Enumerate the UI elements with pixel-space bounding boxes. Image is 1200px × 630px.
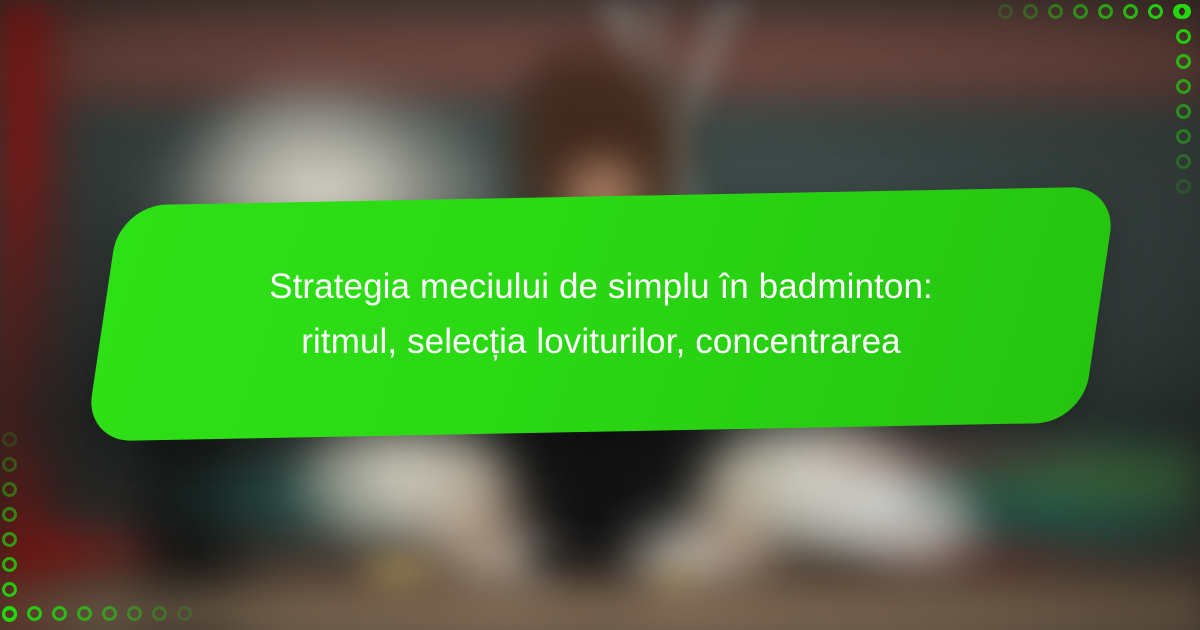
decorative-dots-bottom-left-row — [2, 606, 204, 628]
decorative-dot — [1123, 4, 1138, 19]
decorative-dot — [1048, 4, 1063, 19]
decorative-dot — [1176, 54, 1191, 69]
decorative-dot — [998, 4, 1013, 19]
decorative-dot — [2, 432, 17, 447]
title-line-1: Strategia meciului de simplu în badminto… — [269, 266, 933, 307]
decorative-dot — [1176, 129, 1191, 144]
decorative-dot — [1176, 79, 1191, 94]
decorative-dot — [1176, 154, 1191, 169]
decorative-dot — [1073, 4, 1088, 19]
decorative-dots-top-right-row — [998, 4, 1200, 26]
decorative-dot — [2, 482, 17, 497]
decorative-dot — [1176, 29, 1191, 44]
decorative-dot — [27, 606, 42, 621]
title-card: Strategia meciului de simplu în badminto… — [104, 196, 1098, 432]
decorative-dot — [2, 507, 17, 522]
decorative-dot — [77, 606, 92, 621]
decorative-dot — [1176, 179, 1191, 194]
decorative-dots-bottom-left-column — [2, 432, 24, 622]
decorative-dot — [2, 582, 17, 597]
decorative-dot — [1023, 4, 1038, 19]
decorative-dot — [2, 557, 17, 572]
decorative-dot — [1098, 4, 1113, 19]
decorative-dot — [2, 457, 17, 472]
decorative-dot — [52, 606, 67, 621]
title-text-block: Strategia meciului de simplu în badminto… — [104, 196, 1098, 432]
decorative-dots-top-right-column — [1176, 4, 1198, 216]
decorative-dot — [2, 606, 17, 621]
title-line-2: ritmul, selecția loviturilor, concentrar… — [301, 321, 900, 362]
decorative-dot — [127, 606, 142, 621]
decorative-dot — [1176, 4, 1191, 19]
decorative-dot — [102, 606, 117, 621]
decorative-dot — [1148, 4, 1163, 19]
decorative-dot — [152, 606, 167, 621]
decorative-dot — [2, 532, 17, 547]
decorative-dot — [1176, 104, 1191, 119]
decorative-dot — [177, 606, 192, 621]
share-card-canvas: Strategia meciului de simplu în badminto… — [0, 0, 1200, 630]
